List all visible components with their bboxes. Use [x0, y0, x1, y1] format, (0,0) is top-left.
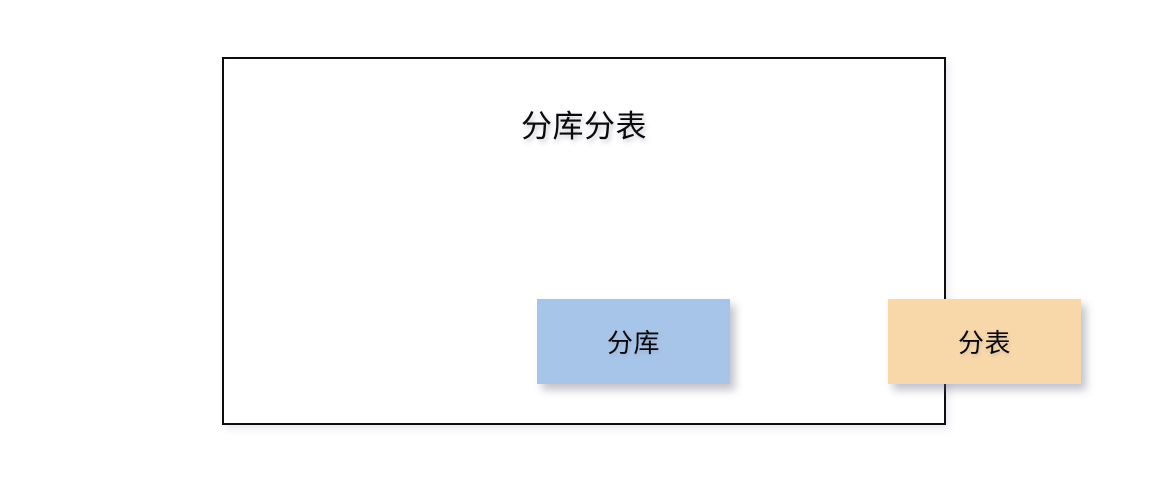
- node-shard-db-label: 分库: [607, 323, 660, 360]
- diagram-canvas: 分库分表 分库 分表: [0, 0, 1154, 478]
- diagram-title: 分库分表: [224, 111, 944, 144]
- diagram-container-frame: 分库分表 分库 分表: [222, 57, 946, 425]
- node-shard-table[interactable]: 分表: [888, 299, 1081, 384]
- node-shard-db[interactable]: 分库: [537, 299, 730, 384]
- node-shard-table-label: 分表: [958, 323, 1011, 360]
